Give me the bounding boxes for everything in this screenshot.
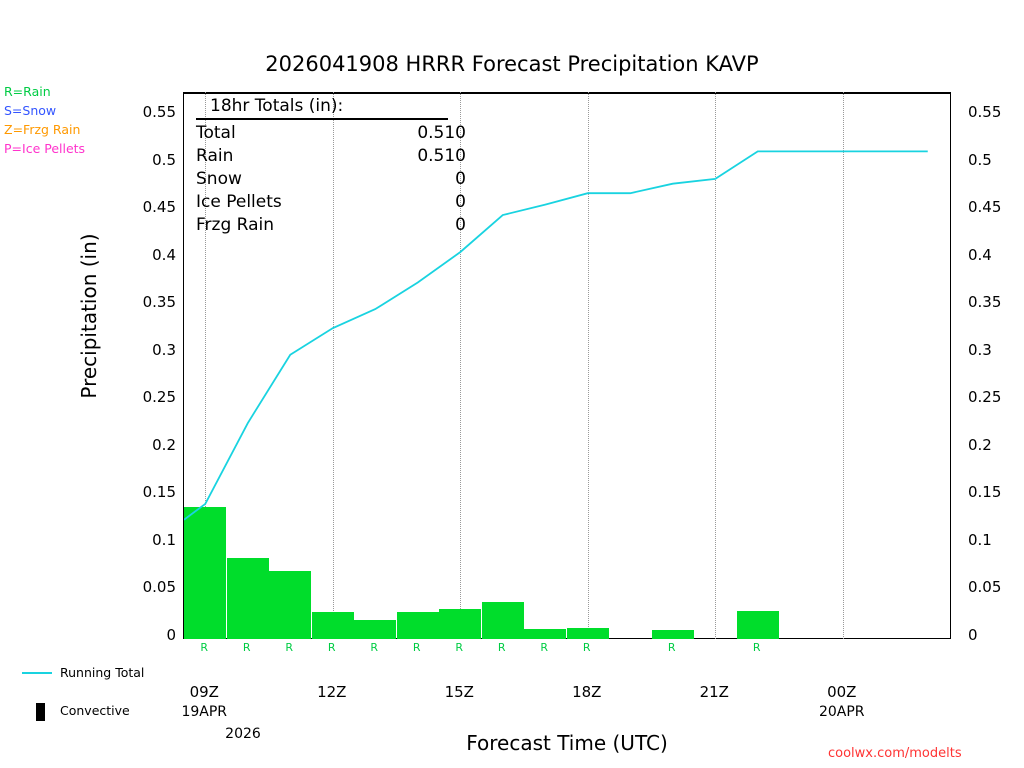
- line-swatch-icon: [22, 672, 52, 674]
- x-tick-2: 15Z: [414, 683, 504, 701]
- y-tick-left-2: 0.1: [130, 531, 176, 549]
- totals-label-1: Rain: [196, 145, 233, 168]
- totals-label-0: Total: [196, 122, 236, 145]
- totals-value-3: 0: [356, 191, 466, 214]
- totals-label-4: Frzg Rain: [196, 214, 274, 237]
- y-tick-right-9: 0.45: [968, 198, 1024, 216]
- totals-row-0: Total0.510: [196, 122, 616, 145]
- totals-value-4: 0: [356, 214, 466, 237]
- totals-box: 18hr Totals (in): Total0.510Rain0.510Sno…: [196, 96, 616, 237]
- y-tick-right-10: 0.5: [968, 151, 1024, 169]
- x-tick-4: 21Z: [669, 683, 759, 701]
- y-tick-left-7: 0.35: [130, 293, 176, 311]
- totals-rows: Total0.510Rain0.510Snow0Ice Pellets0Frzg…: [196, 122, 616, 237]
- y-tick-right-8: 0.4: [968, 246, 1024, 264]
- ptype-label-11Z: R: [279, 641, 299, 654]
- totals-value-0: 0.510: [356, 122, 466, 145]
- y-tick-left-8: 0.4: [130, 246, 176, 264]
- y-tick-left-0: 0: [130, 626, 176, 644]
- totals-header: 18hr Totals (in):: [196, 96, 616, 116]
- key-rain: R=Rain: [4, 82, 144, 101]
- y-tick-left-11: 0.55: [130, 103, 176, 121]
- totals-row-1: Rain0.510: [196, 145, 616, 168]
- totals-value-2: 0: [356, 168, 466, 191]
- ptype-label-20Z: R: [662, 641, 682, 654]
- y-tick-right-11: 0.55: [968, 103, 1024, 121]
- ptype-label-18Z: R: [577, 641, 597, 654]
- ptype-label-14Z: R: [407, 641, 427, 654]
- y-tick-left-3: 0.15: [130, 483, 176, 501]
- y-tick-right-2: 0.1: [968, 531, 1024, 549]
- totals-label-3: Ice Pellets: [196, 191, 282, 214]
- y-axis-left-ticks: 00.050.10.150.20.250.30.350.40.450.50.55: [130, 92, 176, 639]
- key-ice-pellets: P=Ice Pellets: [4, 139, 144, 158]
- block-swatch-icon: [36, 703, 45, 721]
- ptype-label-13Z: R: [364, 641, 384, 654]
- y-tick-left-10: 0.5: [130, 151, 176, 169]
- totals-row-3: Ice Pellets0: [196, 191, 616, 214]
- x-tick-5: 00Z: [797, 683, 887, 701]
- precip-type-key: R=Rain S=Snow Z=Frzg Rain P=Ice Pellets: [4, 82, 144, 158]
- legend-label-running-total: Running Total: [60, 665, 144, 680]
- y-tick-right-5: 0.25: [968, 388, 1024, 406]
- totals-label-2: Snow: [196, 168, 242, 191]
- chart-legend: Running Total Convective: [14, 665, 184, 741]
- ptype-label-16Z: R: [492, 641, 512, 654]
- precip-type-row: RRRRRRRRRRRR: [183, 641, 951, 659]
- key-snow: S=Snow: [4, 101, 144, 120]
- totals-row-2: Snow0: [196, 168, 616, 191]
- ptype-label-17Z: R: [534, 641, 554, 654]
- y-axis-right-ticks: 00.050.10.150.20.250.30.350.40.450.50.55: [958, 92, 1018, 639]
- y-tick-right-0: 0: [968, 626, 1024, 644]
- y-tick-left-9: 0.45: [130, 198, 176, 216]
- ptype-label-15Z: R: [449, 641, 469, 654]
- x-tick-3: 18Z: [542, 683, 632, 701]
- legend-label-convective: Convective: [60, 703, 130, 718]
- key-frzg-rain: Z=Frzg Rain: [4, 120, 144, 139]
- site-credit: coolwx.com/modelts: [828, 746, 962, 761]
- ptype-label-12Z: R: [322, 641, 342, 654]
- y-tick-left-4: 0.2: [130, 436, 176, 454]
- y-tick-right-1: 0.05: [968, 578, 1024, 596]
- totals-row-4: Frzg Rain0: [196, 214, 616, 237]
- y-tick-right-7: 0.35: [968, 293, 1024, 311]
- y-tick-right-4: 0.2: [968, 436, 1024, 454]
- ptype-label-10Z: R: [237, 641, 257, 654]
- totals-divider: [196, 118, 448, 120]
- page-title: 2026041908 HRRR Forecast Precipitation K…: [0, 52, 1024, 76]
- totals-value-1: 0.510: [356, 145, 466, 168]
- x-date-5: 20APR: [797, 704, 887, 720]
- y-tick-right-6: 0.3: [968, 341, 1024, 359]
- y-tick-left-6: 0.3: [130, 341, 176, 359]
- y-tick-left-1: 0.05: [130, 578, 176, 596]
- y-axis-title: Precipitation (in): [77, 166, 101, 466]
- ptype-label-09Z: R: [194, 641, 214, 654]
- legend-item-running-total: Running Total: [14, 665, 184, 703]
- x-tick-1: 12Z: [287, 683, 377, 701]
- y-tick-left-5: 0.25: [130, 388, 176, 406]
- ptype-label-22Z: R: [747, 641, 767, 654]
- legend-item-convective: Convective: [14, 703, 184, 741]
- y-tick-right-3: 0.15: [968, 483, 1024, 501]
